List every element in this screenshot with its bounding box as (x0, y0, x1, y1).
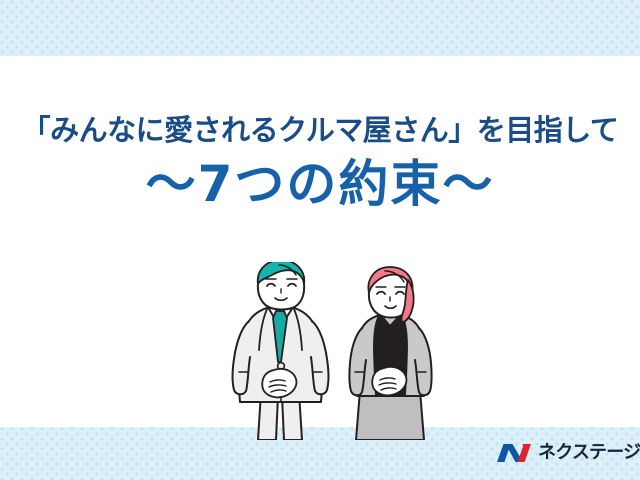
slide-canvas: 「みんなに愛されるクルマ屋さん」を目指して 〜7つの約束〜 (0, 0, 640, 480)
two-bowing-staff-illustration (0, 262, 640, 440)
top-dot-band (0, 0, 640, 56)
headline-block: 「みんなに愛されるクルマ屋さん」を目指して 〜7つの約束〜 (0, 112, 640, 214)
nextage-wordmark: ネクステージ (538, 444, 640, 462)
male-staff-figure (233, 262, 329, 440)
nextage-n-mark-icon (497, 441, 531, 465)
page-subtitle: 〜7つの約束〜 (0, 156, 640, 214)
page-title: 「みんなに愛されるクルマ屋さん」を目指して (0, 112, 640, 148)
nextage-logo: ネクステージ (497, 437, 625, 469)
female-staff-figure (349, 267, 431, 440)
